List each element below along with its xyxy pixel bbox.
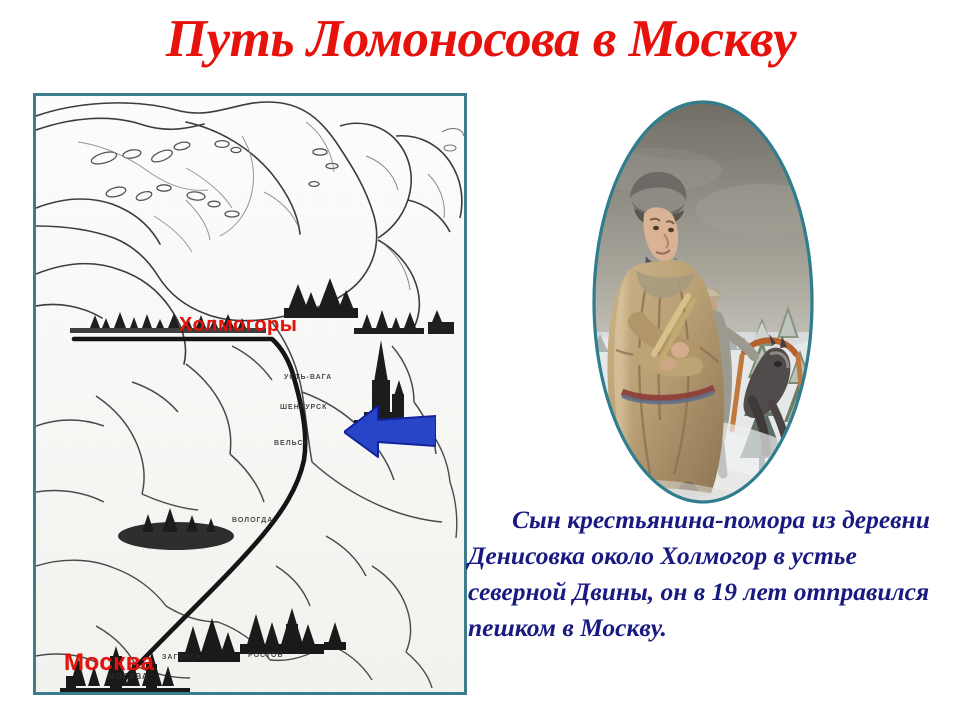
left-arrow-icon: [344, 402, 436, 460]
description-paragraph: Сын крестьянина-помора из деревни Денисо…: [468, 502, 948, 646]
page-title: Путь Ломоносова в Москву: [0, 8, 962, 70]
map-city-velsk: ВЕЛЬСК: [274, 440, 309, 447]
map-city-vologda: ВОЛОГДА: [232, 517, 273, 524]
map-panel[interactable]: УСТЬ-ВАГА ШЕНКУРСК ВЕЛЬСК ВОЛОГДА ЗАГОРС…: [33, 93, 467, 695]
slide-root: Путь Ломоносова в Москву: [0, 0, 962, 722]
pointer-arrow: [344, 402, 436, 460]
map-label-kholmogory: Холмогоры: [179, 314, 297, 337]
map-city-shenkursk: ШЕНКУРСК: [280, 404, 327, 411]
map-illustration: [36, 96, 464, 692]
map-city-zagorsk: ЗАГОРСК: [162, 654, 202, 661]
map-city-ust-vaga: УСТЬ-ВАГА: [284, 374, 332, 381]
map-label-moskva: Москва: [64, 649, 154, 677]
portrait-oval[interactable]: [592, 100, 814, 504]
map-city-rostov: РОСТОВ: [248, 652, 284, 659]
lomonosov-winter-painting: [592, 100, 814, 504]
